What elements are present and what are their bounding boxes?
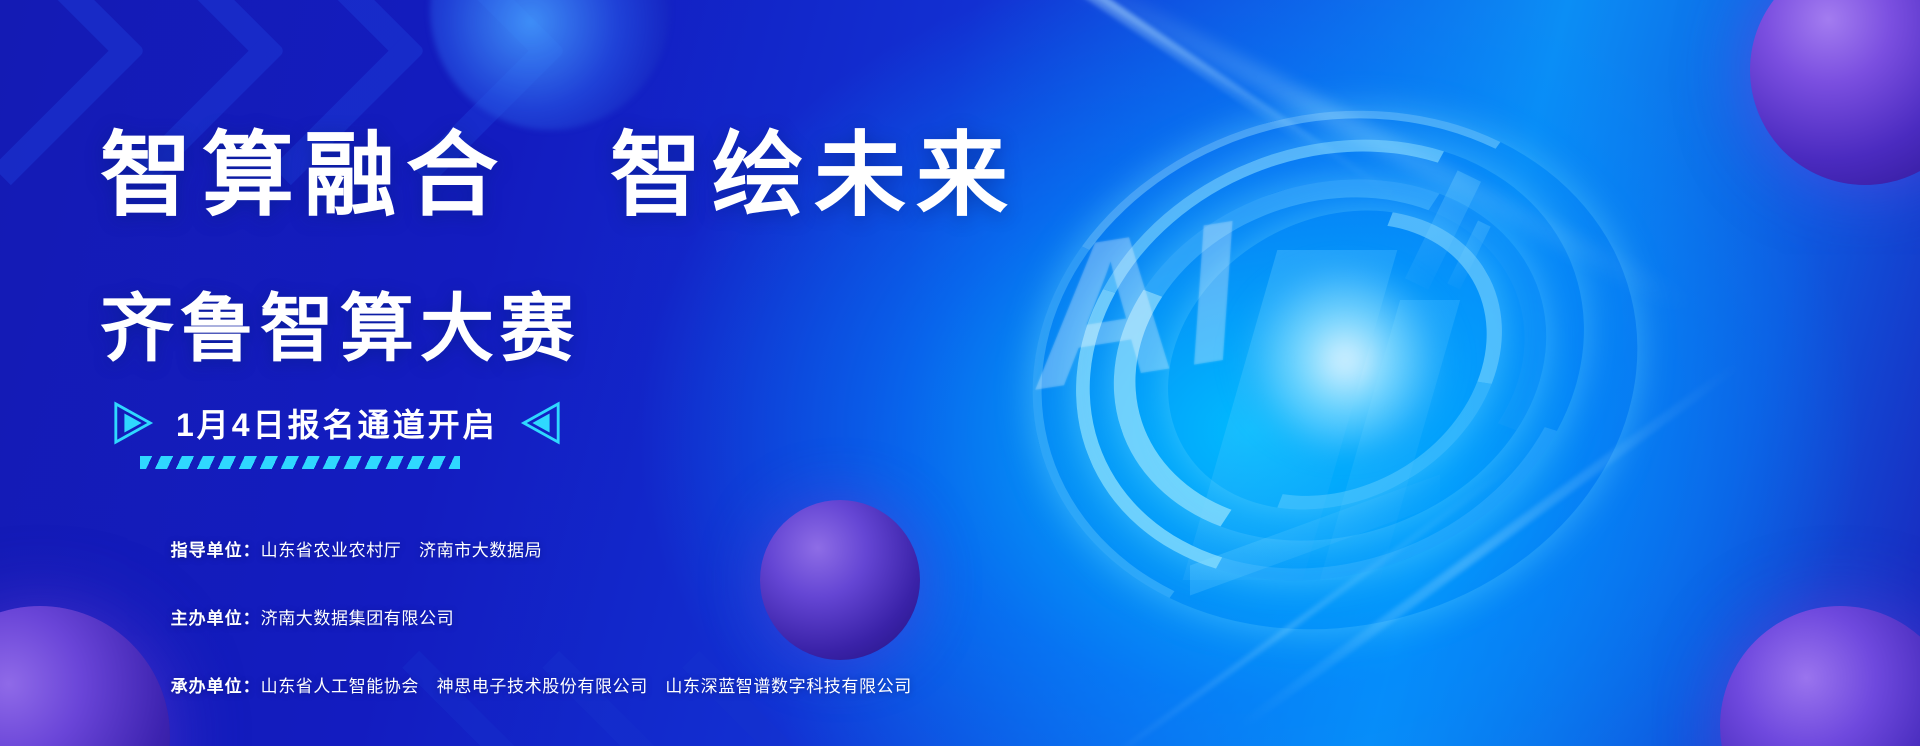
organizer-value: 山东省农业农村厅 济南市大数据局 [261,541,543,560]
decorative-stripe-bar [140,456,460,469]
organizer-row: 指导单位：山东省农业农村厅 济南市大数据局 [128,525,912,576]
organizer-row: 主办单位：济南大数据集团有限公司 [128,593,912,644]
play-triangle-right-icon [112,400,154,446]
organizer-value: 山东省人工智能协会 神思电子技术股份有限公司 山东深蓝智谱数字科技有限公司 [261,677,912,696]
banner-content: 智算融合 智绘未来 齐鲁智算大赛 1月4日报名通道开启 指导单位：山东省农业农村… [0,0,1920,746]
event-name: 齐鲁智算大赛 [100,292,580,366]
event-promo-banner: AI 智算融合 智绘未来 齐鲁智算大赛 1月4日报名通道开启 [0,0,1920,746]
registration-notice-row: 1月4日报名通道开启 [112,400,562,446]
registration-date-text: 1月4日报名通道开启 [176,400,498,446]
organizer-row: 承办单位：山东省人工智能协会 神思电子技术股份有限公司 山东深蓝智谱数字科技有限… [128,661,912,712]
organizer-label: 主办单位： [171,609,261,628]
page-title: 智算融合 智绘未来 [100,130,1018,222]
organizer-list: 指导单位：山东省农业农村厅 济南市大数据局 主办单位：济南大数据集团有限公司 承… [128,525,912,729]
play-triangle-left-icon [520,400,562,446]
organizer-label: 指导单位： [171,541,261,560]
organizer-value: 济南大数据集团有限公司 [261,609,455,628]
organizer-label: 承办单位： [171,677,261,696]
